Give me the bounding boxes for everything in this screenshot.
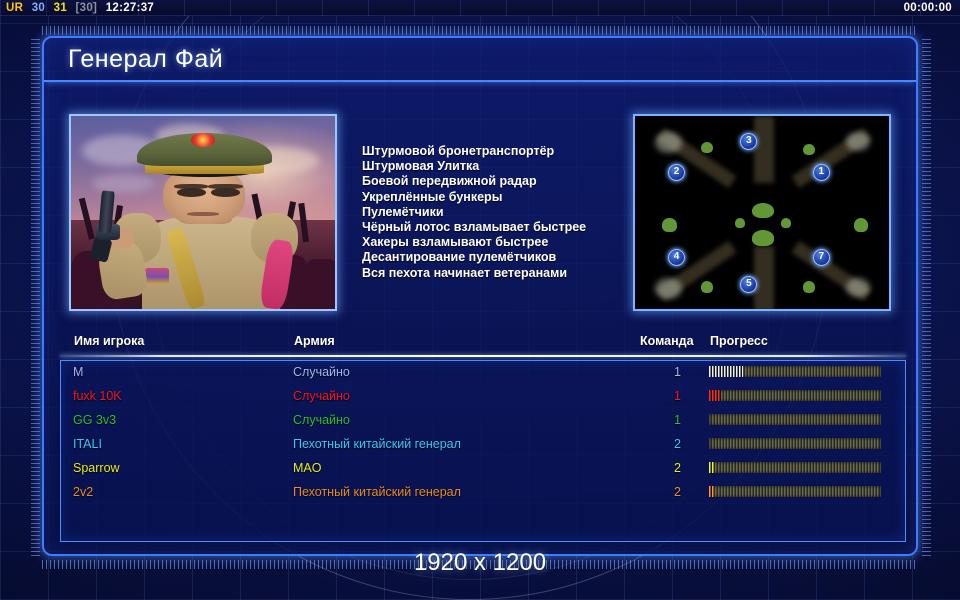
portrait-eye	[211, 188, 240, 197]
main-panel: Генерал Фай	[42, 36, 918, 556]
map-road	[754, 246, 773, 311]
player-army: Случайно	[293, 413, 350, 427]
column-header-army: Армия	[294, 334, 335, 348]
resolution-caption: 1920 x 1200	[0, 549, 960, 577]
top-status-bar: UR 30 31 [30] 12:27:37 00:00:00	[0, 0, 960, 16]
player-team: 1	[663, 413, 681, 427]
map-terrain	[643, 116, 885, 311]
ability-item: Вся пехота начинает ветеранами	[362, 266, 652, 281]
player-army: Пехотный китайский генерал	[293, 485, 461, 499]
general-info-row: Штурмовой бронетранспортёр Штурмовая Ули…	[44, 82, 916, 319]
map-decor	[655, 278, 682, 300]
general-portrait	[69, 114, 337, 311]
player-progress-fill	[709, 486, 714, 497]
table-row[interactable]: 2v2Пехотный китайский генерал2	[61, 481, 905, 505]
ability-item: Укреплённые бункеры	[362, 190, 652, 205]
player-name: M	[73, 365, 83, 379]
map-tree	[662, 218, 677, 232]
table-row[interactable]: SparrowMAO2	[61, 457, 905, 481]
map-tree-center	[735, 218, 745, 228]
player-progress-fill	[709, 462, 714, 473]
portrait-cap-badge	[191, 133, 215, 147]
ruler-strip-top	[42, 26, 918, 35]
player-table-body: MСлучайно1fuxk 10KСлучайно1GG 3v3Случайн…	[60, 360, 906, 542]
ruler-strip-right	[922, 36, 931, 556]
map-tree	[701, 142, 713, 154]
ability-item: Пулемётчики	[362, 205, 652, 220]
player-progress-bar	[709, 462, 881, 473]
column-header-progress: Прогресс	[710, 334, 768, 348]
player-army: Пехотный китайский генерал	[293, 437, 461, 451]
map-tree	[803, 144, 815, 156]
map-tree	[803, 281, 815, 293]
map-start-position[interactable]: 7	[813, 249, 830, 266]
map-tree-center	[752, 230, 774, 246]
resource-value-2: 31	[54, 2, 67, 14]
map-decor	[846, 132, 870, 152]
table-row[interactable]: ITALIПехотный китайский генерал2	[61, 433, 905, 457]
panel-title-bar: Генерал Фай	[44, 38, 916, 82]
map-tree-center	[752, 203, 774, 219]
map-tree-center	[781, 218, 791, 228]
portrait-art	[71, 116, 335, 309]
portrait-medal	[145, 268, 169, 283]
ability-item: Боевой передвижной радар	[362, 174, 652, 189]
ability-item: Штурмовой бронетранспортёр	[362, 144, 652, 159]
portrait-eye	[177, 188, 206, 197]
map-tree	[701, 281, 713, 293]
ability-item: Хакеры взламывают быстрее	[362, 235, 652, 250]
page-title: Генерал Фай	[68, 45, 223, 74]
player-progress-fill	[709, 366, 743, 377]
player-name: 2v2	[73, 485, 93, 499]
system-clock: 12:27:37	[106, 2, 154, 14]
player-progress-bar	[709, 414, 881, 425]
player-name: Sparrow	[73, 461, 120, 475]
resource-label: UR	[6, 2, 23, 14]
ability-item: Чёрный лотос взламывает быстрее	[362, 220, 652, 235]
player-team: 1	[663, 365, 681, 379]
player-army: MAO	[293, 461, 321, 475]
game-lobby-screen: UR 30 31 [30] 12:27:37 00:00:00 Генерал …	[0, 0, 960, 600]
player-team: 2	[663, 437, 681, 451]
table-row[interactable]: MСлучайно1	[61, 361, 905, 385]
player-name: fuxk 10K	[73, 389, 122, 403]
ruler-strip-left	[31, 36, 40, 556]
elapsed-timer: 00:00:00	[904, 0, 952, 16]
column-header-name: Имя игрока	[74, 334, 144, 348]
map-preview[interactable]: 3 2 1 4 7 5	[633, 114, 891, 311]
player-progress-fill	[709, 390, 721, 401]
player-team: 2	[663, 485, 681, 499]
player-progress-bar	[709, 438, 881, 449]
map-decor	[655, 132, 682, 154]
map-tree	[854, 218, 869, 232]
player-table: Имя игрока Армия Команда Прогресс MСлуча…	[44, 334, 916, 552]
table-row[interactable]: GG 3v3Случайно1	[61, 409, 905, 433]
player-team: 2	[663, 461, 681, 475]
portrait-soldier-silhouette	[303, 259, 337, 309]
general-abilities-list: Штурмовой бронетранспортёр Штурмовая Ули…	[362, 144, 652, 281]
table-row[interactable]: fuxk 10KСлучайно1	[61, 385, 905, 409]
ability-item: Десантирование пулемётчиков	[362, 250, 652, 265]
map-road	[754, 116, 773, 183]
resource-bracket: [30]	[76, 2, 98, 14]
resource-value-1: 30	[32, 2, 45, 14]
player-progress-bar	[709, 390, 881, 401]
player-army: Случайно	[293, 389, 350, 403]
map-start-position[interactable]: 1	[813, 164, 830, 181]
player-team: 1	[663, 389, 681, 403]
column-header-team: Команда	[640, 334, 694, 348]
player-progress-bar	[709, 366, 881, 377]
player-name: ITALI	[73, 437, 102, 451]
ability-item: Штурмовая Улитка	[362, 159, 652, 174]
player-army: Случайно	[293, 365, 350, 379]
player-progress-bar	[709, 486, 881, 497]
header-divider	[60, 355, 906, 357]
player-name: GG 3v3	[73, 413, 116, 427]
